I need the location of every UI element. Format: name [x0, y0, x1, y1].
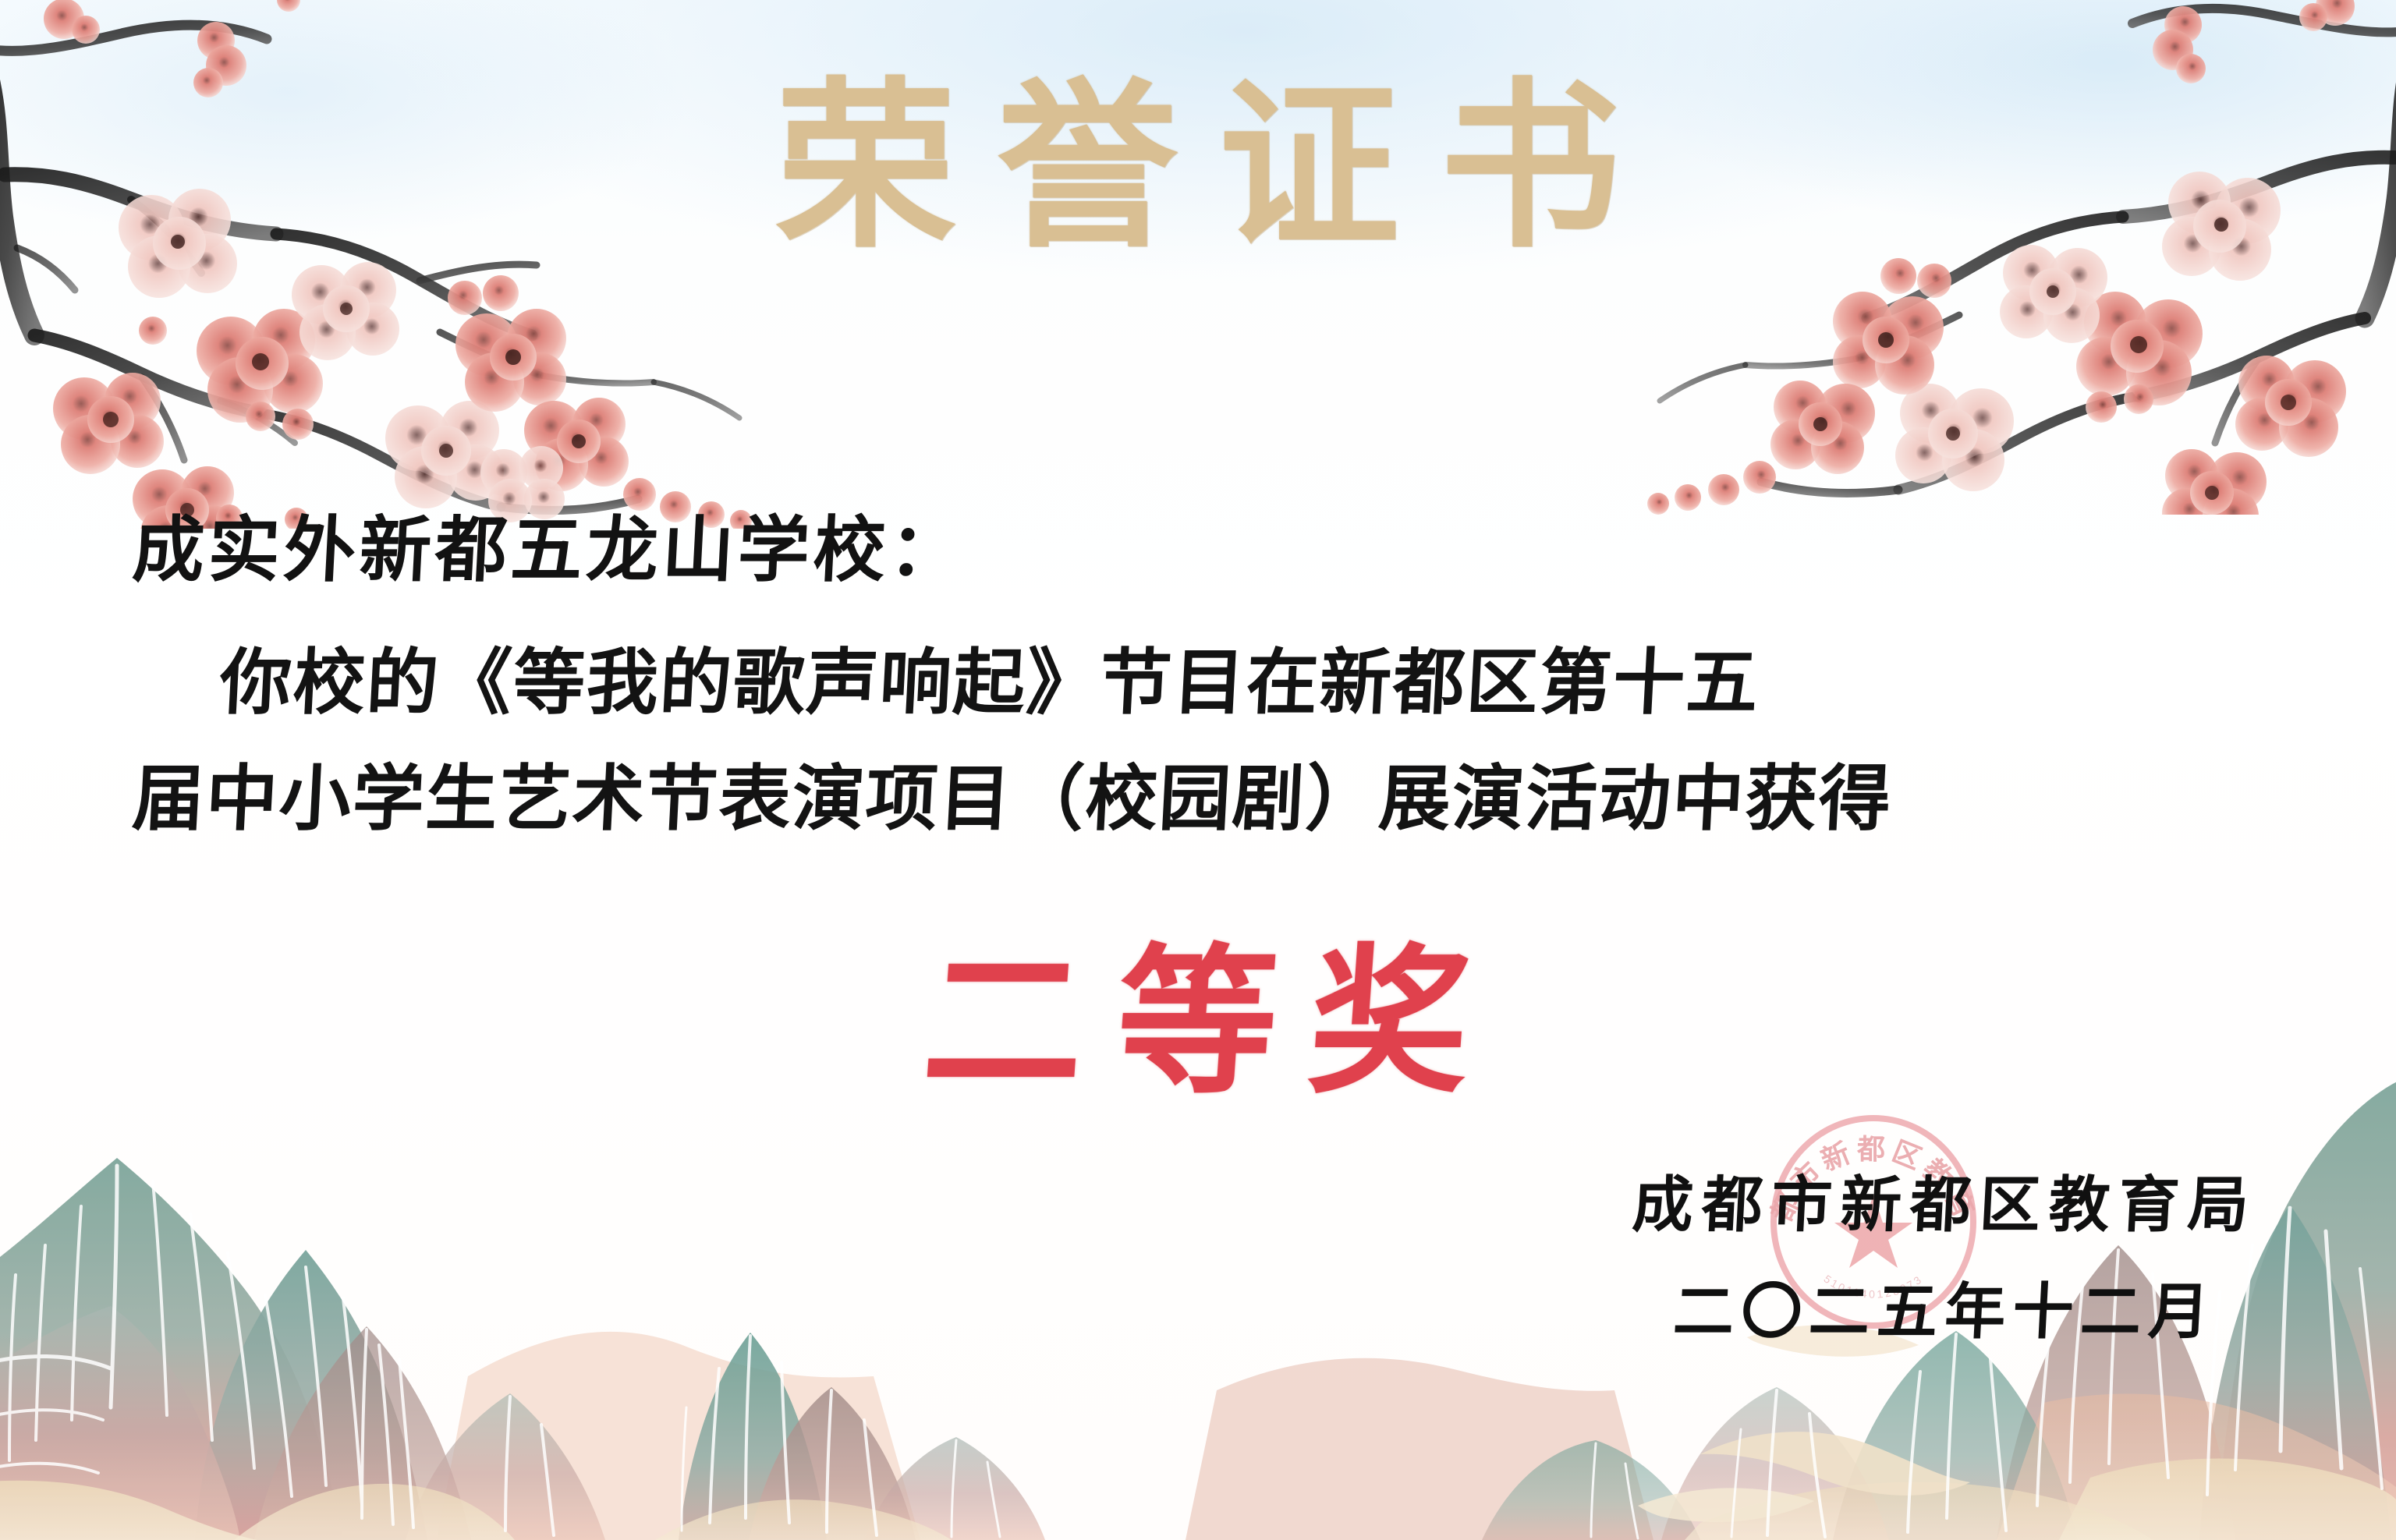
certificate-page: 荣誉证书 成实外新都五龙山学校： 你校的《等我的歌声响起》节目在新都区第十五 届… [0, 0, 2396, 1540]
signature-block: 成都市新都区教育局 二〇二五年十二月 [1632, 1160, 2257, 1358]
issuer-name: 成都市新都区教育局 [1630, 1160, 2260, 1250]
issue-date: 二〇二五年十二月 [1630, 1267, 2260, 1357]
certificate-body: 成实外新都五龙山学校： 你校的《等我的歌声响起》节目在新都区第十五 届中小学生艺… [133, 507, 2263, 858]
body-line-1: 你校的《等我的歌声响起》节目在新都区第十五 [217, 625, 2267, 742]
award-level: 二等奖 [0, 893, 2396, 1124]
recipient-salutation: 成实外新都五龙山学校： [130, 507, 2266, 594]
certificate-title: 荣誉证书 [0, 75, 2396, 263]
body-line-2: 届中小学生艺术节表演项目（校园剧）展演活动中获得 [129, 742, 2267, 858]
